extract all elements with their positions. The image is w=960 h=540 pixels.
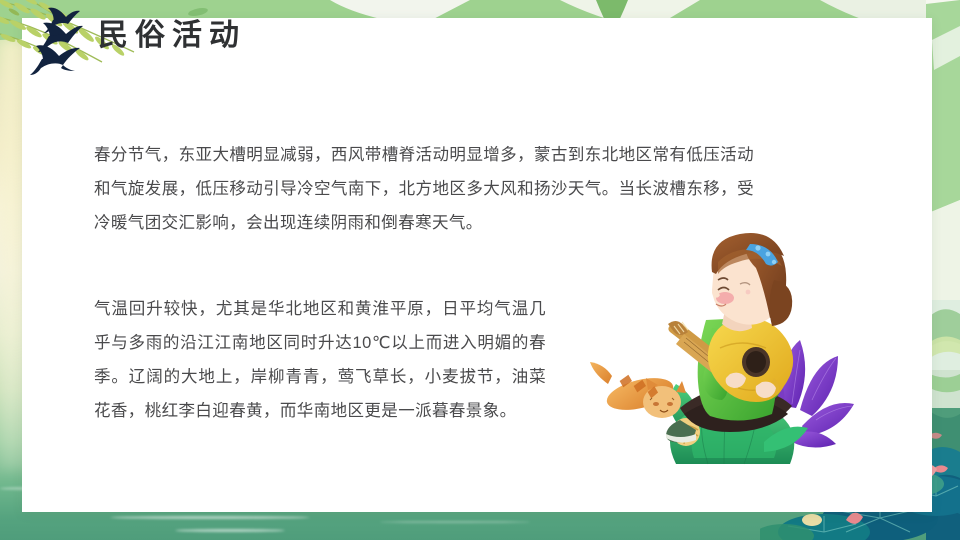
illustration-girl-playing-guitar-with-cat (588, 228, 888, 466)
water-streak (380, 521, 530, 523)
swallow-icon (38, 18, 84, 52)
water-streak (175, 529, 285, 532)
paragraph-1: 春分节气，东亚大槽明显减弱，西风带槽脊活动明显增多，蒙古到东北地区常有低压活动和… (94, 138, 754, 240)
page-title-row: 民俗活动 (38, 18, 246, 52)
girl (666, 233, 793, 443)
page-title: 民俗活动 (98, 19, 246, 52)
paragraph-2: 气温回升较快，尤其是华北地区和黄淮平原，日平均气温几乎与多雨的沿江江南地区同时升… (94, 292, 546, 428)
water-streak (110, 516, 310, 519)
slide-root: 民俗活动 春分节气，东亚大槽明显减弱，西风带槽脊活动明显增多，蒙古到东北地区常有… (0, 0, 960, 540)
